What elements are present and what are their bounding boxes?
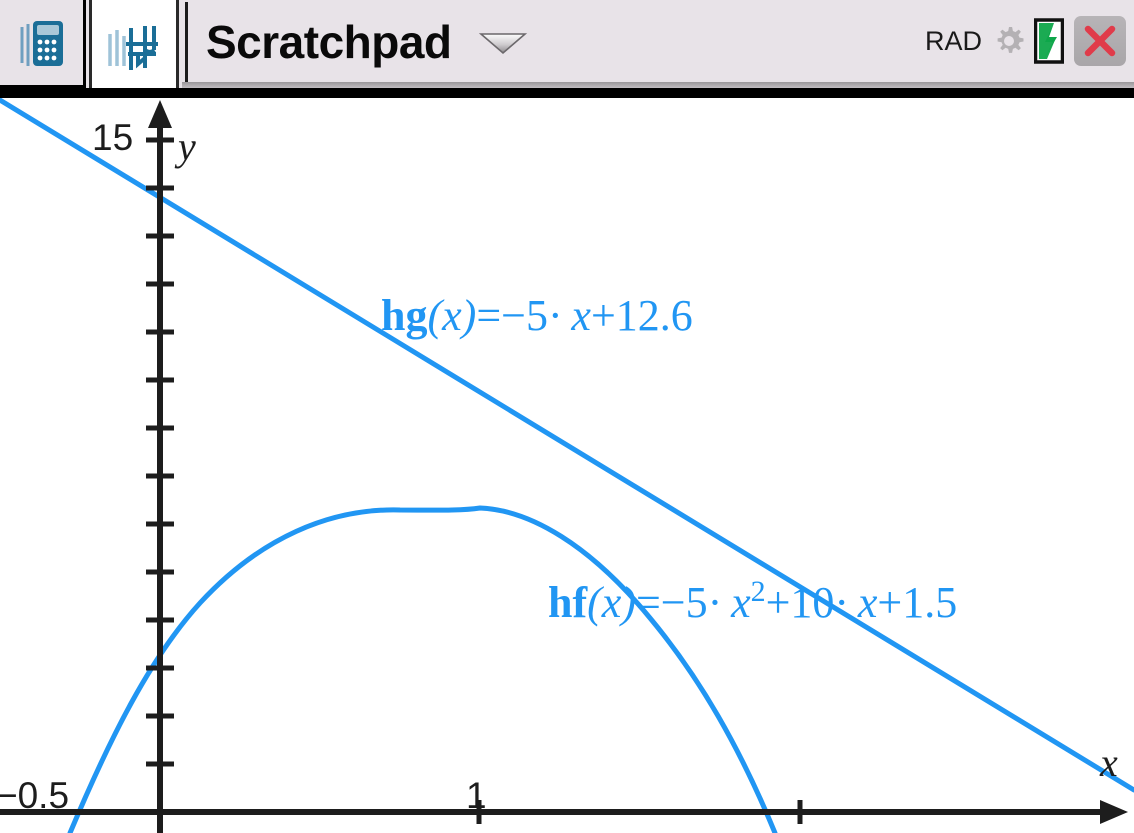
tab-calculator[interactable] <box>0 0 86 88</box>
header-underline <box>0 88 1134 98</box>
tab-graph[interactable] <box>89 0 179 98</box>
chevron-down-icon[interactable] <box>478 29 528 55</box>
axis-x-arrowhead <box>1100 800 1128 824</box>
status-cluster: RAD <box>925 0 1126 82</box>
graph-svg: 15 y x −0.5 1 hg(x)=−5· x+12.6 hf(x)=−5·… <box>0 98 1134 833</box>
graph-canvas[interactable]: 15 y x −0.5 1 hg(x)=−5· x+12.6 hf(x)=−5·… <box>0 98 1134 833</box>
x-axis-label: x <box>1099 740 1118 785</box>
page-title: Scratchpad <box>206 19 452 65</box>
function-label-hg: hg(x)=−5· x+12.6 <box>381 291 693 340</box>
curve-hg <box>0 98 1134 790</box>
battery-icon <box>1034 18 1064 64</box>
close-x-icon <box>1081 22 1119 60</box>
x-tick-label-one: 1 <box>466 775 487 816</box>
curve-hf <box>70 508 775 833</box>
app-header: Scratchpad RAD <box>0 0 1134 88</box>
y-axis-label: y <box>174 124 196 169</box>
x-tick-label-minus-half: −0.5 <box>0 775 69 816</box>
title-block: Scratchpad <box>185 2 528 82</box>
function-label-hf: hf(x)=−5· x2+10· x+1.5 <box>548 575 957 627</box>
close-button[interactable] <box>1074 16 1126 66</box>
y-tick-label-15: 15 <box>92 117 133 158</box>
axis-y-arrowhead <box>148 100 172 128</box>
gear-icon[interactable] <box>992 24 1026 58</box>
tinspire-window: Scratchpad RAD <box>0 0 1134 833</box>
graph-plot-icon <box>104 20 164 78</box>
angle-mode-indicator: RAD <box>925 26 982 57</box>
calculator-icon <box>16 15 68 71</box>
